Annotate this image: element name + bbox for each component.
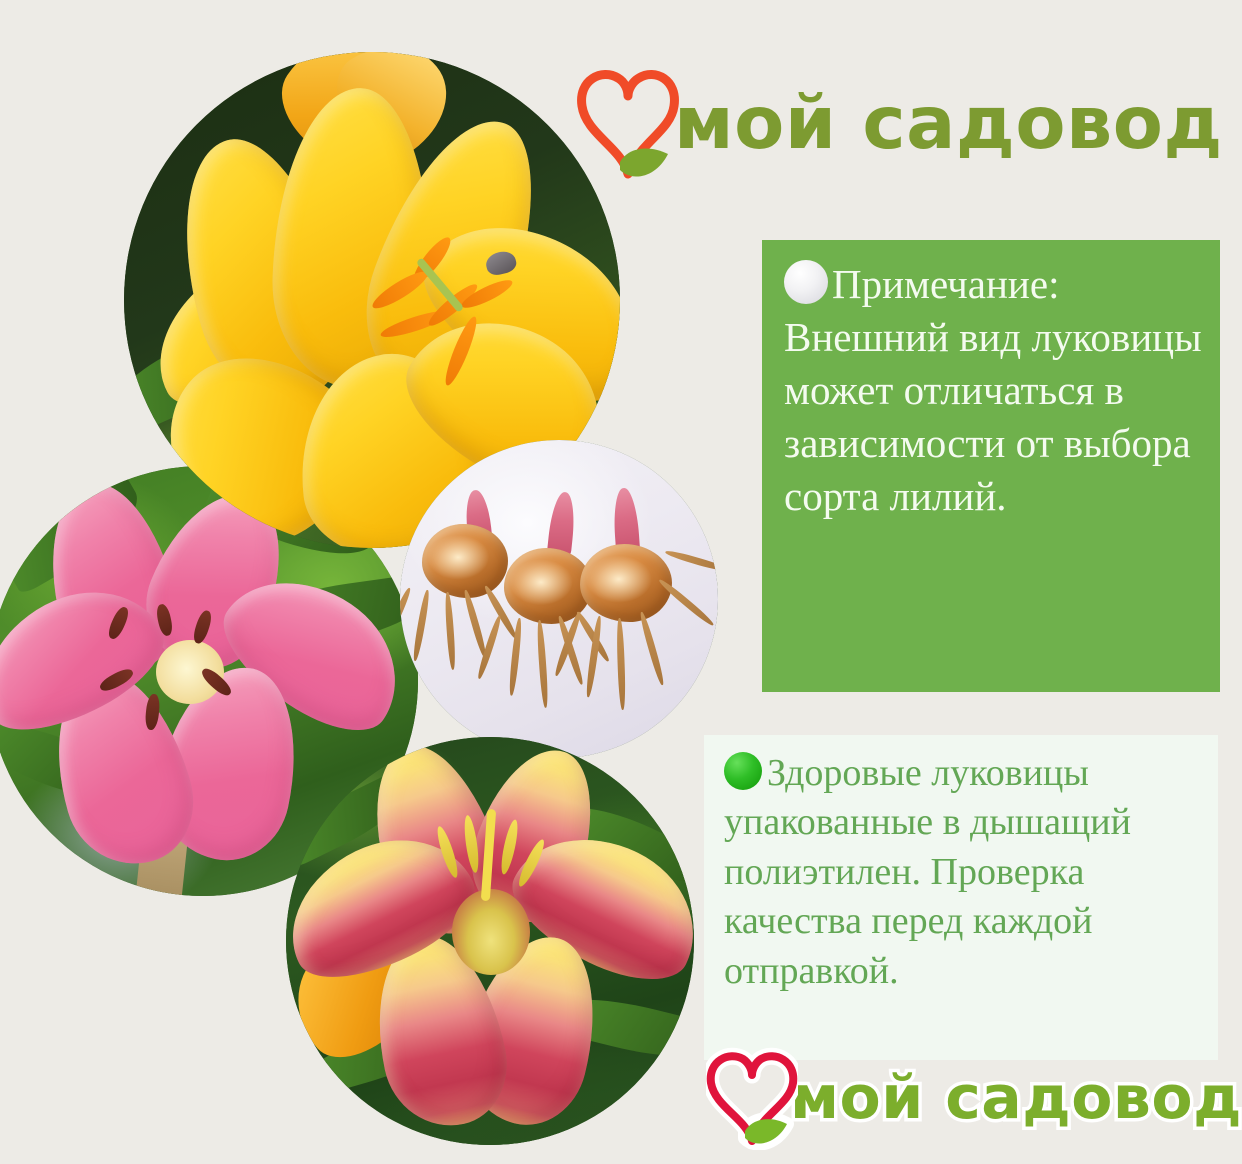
quality-callout-box: Здоровые луковицы упакованные в дышащий … (704, 735, 1218, 1060)
heart-leaf-icon (706, 1046, 798, 1150)
brand-wordmark: мой садовод (674, 87, 1223, 160)
quality-text: Здоровые луковицы упакованные в дышащий … (724, 749, 1206, 996)
photo-lily-bulbs (400, 440, 718, 758)
promo-banner: Примечание: Внешний вид луковицы может о… (0, 0, 1242, 1164)
brand-logo-top: мой садовод (576, 62, 1223, 184)
note-text: Примечание: Внешний вид луковицы может о… (784, 258, 1204, 522)
heart-leaf-icon (576, 62, 680, 184)
lily-bulb (422, 524, 508, 598)
white-circle-icon (784, 260, 828, 304)
photo-bicolor-lily (286, 737, 694, 1145)
brand-logo-bottom: мой садовод (706, 1046, 1242, 1150)
green-circle-icon (724, 752, 762, 790)
lily-throat (452, 889, 530, 975)
quality-text-content: Здоровые луковицы упакованные в дышащий … (724, 752, 1131, 992)
note-text-content: Примечание: Внешний вид луковицы может о… (784, 261, 1202, 519)
lily-bulb (580, 544, 672, 622)
note-callout-box: Примечание: Внешний вид луковицы может о… (762, 240, 1220, 692)
brand-wordmark: мой садовод (790, 1068, 1242, 1128)
